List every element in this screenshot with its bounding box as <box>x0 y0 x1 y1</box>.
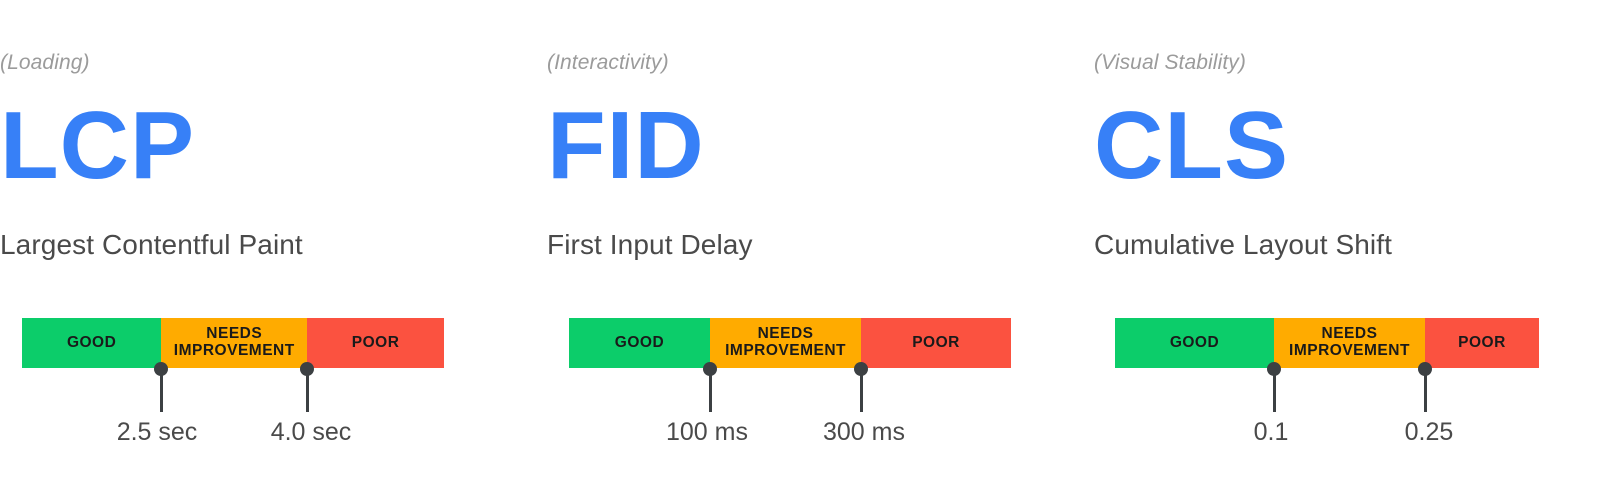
metric-abbreviation: FID <box>547 96 1027 197</box>
bar-segment-good: GOOD <box>1115 318 1274 368</box>
metric-column-cls: (Visual Stability) CLS Cumulative Layout… <box>1094 0 1600 484</box>
threshold-pin-stem <box>1424 368 1427 412</box>
bar-segment-good: GOOD <box>569 318 710 368</box>
metric-column-fid: (Interactivity) FID First Input Delay GO… <box>547 0 1027 484</box>
metric-full-name: First Input Delay <box>547 228 1027 262</box>
bar-segment-poor: POOR <box>1425 318 1539 368</box>
threshold-pin-stem <box>1273 368 1276 412</box>
metric-abbreviation: LCP <box>0 96 480 197</box>
threshold-pin-stem <box>306 368 309 412</box>
bar-segment-needs-improvement: NEEDS IMPROVEMENT <box>161 318 307 368</box>
bar-segment-poor: POOR <box>861 318 1011 368</box>
core-web-vitals-board: (Loading) LCP Largest Contentful Paint G… <box>0 0 1600 484</box>
threshold-value-label: 300 ms <box>734 418 994 447</box>
metric-full-name: Cumulative Layout Shift <box>1094 228 1600 262</box>
threshold-value-label: 0.25 <box>1299 418 1559 447</box>
bar-segment-poor: POOR <box>307 318 444 368</box>
threshold-pin-stem <box>709 368 712 412</box>
threshold-pin-stem <box>160 368 163 412</box>
metric-category-label: (Interactivity) <box>547 52 1027 73</box>
threshold-bar: GOOD NEEDS IMPROVEMENT POOR <box>1115 318 1539 368</box>
metric-category-label: (Loading) <box>0 52 480 73</box>
threshold-bar: GOOD NEEDS IMPROVEMENT POOR <box>22 318 444 368</box>
threshold-bar: GOOD NEEDS IMPROVEMENT POOR <box>569 318 1011 368</box>
metric-category-label: (Visual Stability) <box>1094 52 1600 73</box>
bar-segment-needs-improvement: NEEDS IMPROVEMENT <box>710 318 861 368</box>
threshold-value-label: 4.0 sec <box>181 418 441 447</box>
metric-abbreviation: CLS <box>1094 96 1600 197</box>
bar-segment-good: GOOD <box>22 318 161 368</box>
threshold-pin-stem <box>860 368 863 412</box>
metric-column-lcp: (Loading) LCP Largest Contentful Paint G… <box>0 0 480 484</box>
bar-segment-needs-improvement: NEEDS IMPROVEMENT <box>1274 318 1425 368</box>
metric-full-name: Largest Contentful Paint <box>0 228 480 262</box>
